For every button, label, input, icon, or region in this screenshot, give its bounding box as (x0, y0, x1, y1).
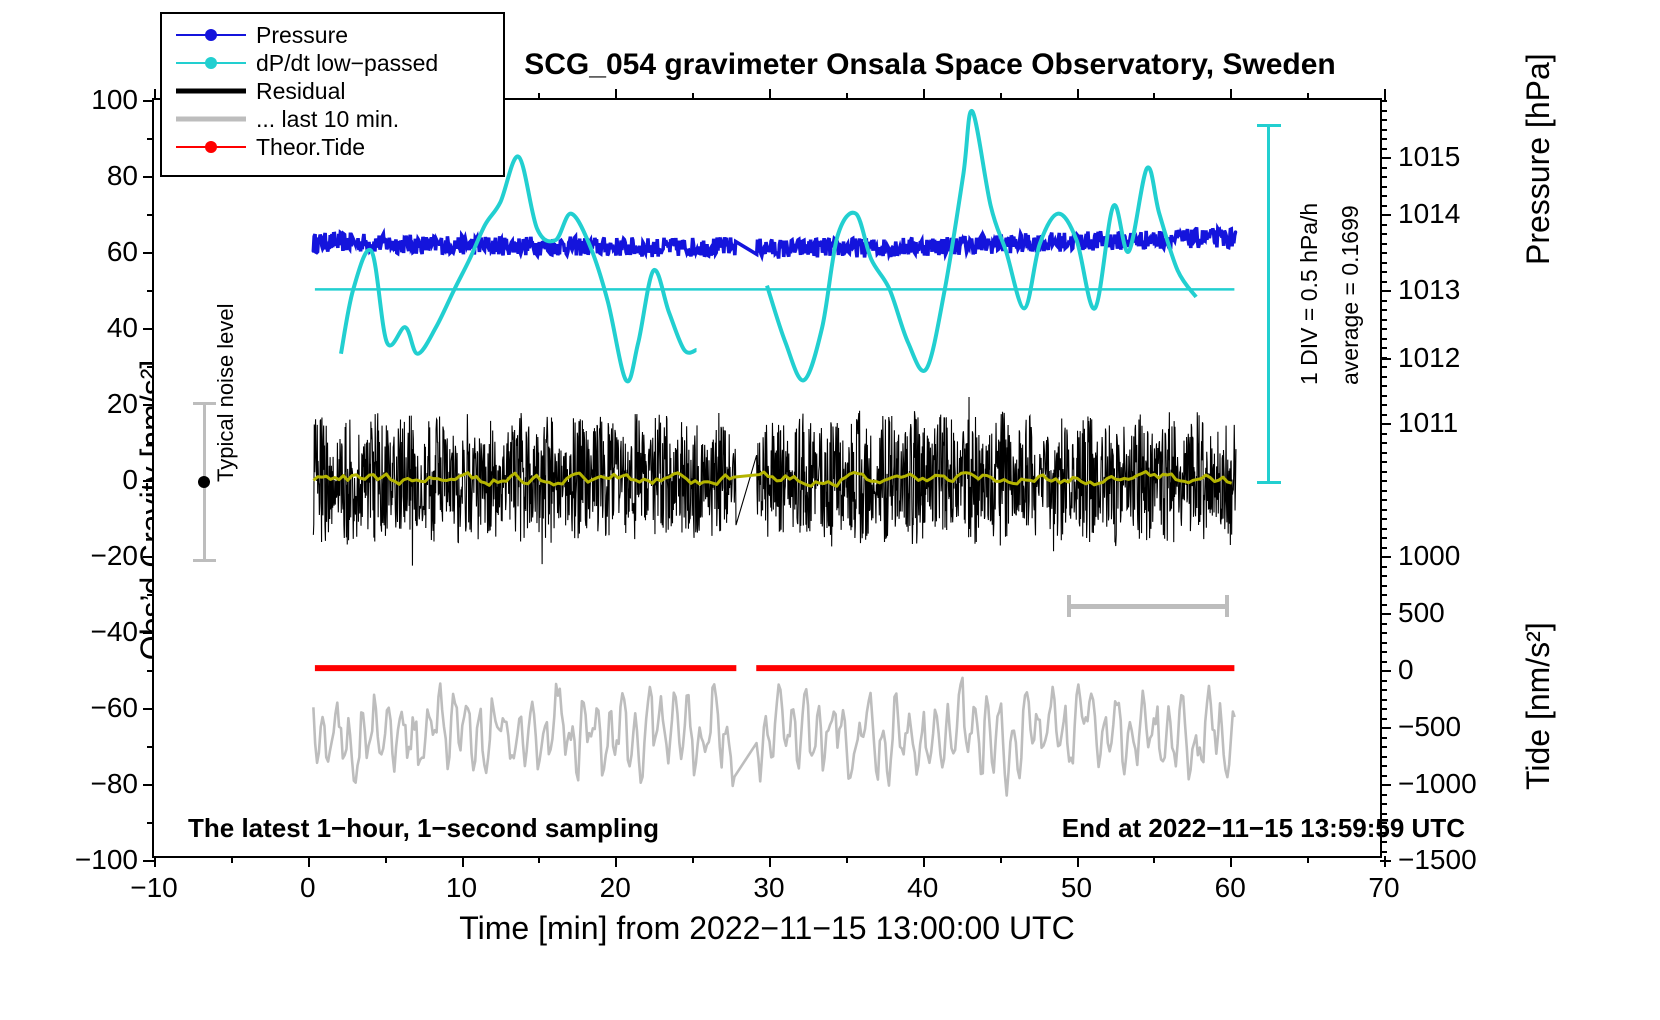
legend-marker-dot (205, 29, 217, 41)
pressure-tick-label: 1015 (1398, 141, 1460, 173)
right-tick-minor (1380, 319, 1387, 321)
caption-end-time: End at 2022−11−15 13:59:59 UTC (1062, 813, 1465, 844)
legend-swatch (172, 21, 250, 49)
y-tick-label: −80 (91, 768, 139, 800)
legend-item[interactable]: dP/dt low−passed (172, 49, 493, 77)
series-layer (154, 100, 1380, 858)
tide-tick-label: −1000 (1398, 768, 1477, 800)
x-tick-major (615, 856, 617, 867)
tide-tick-label: −500 (1398, 711, 1461, 743)
y-tick-minor (147, 518, 154, 520)
plot-area: 100806040200−20−40−60−80−100−10010203040… (152, 98, 1382, 858)
x-tick-major (154, 856, 156, 867)
right-tick-minor (1380, 689, 1387, 691)
x-tick-major (462, 856, 464, 867)
x-tick-minor-top (1000, 93, 1002, 100)
y-tick-major (143, 252, 154, 254)
y-tick-minor (147, 290, 154, 292)
right-tick-minor (1380, 328, 1387, 330)
x-tick-major-top (1230, 89, 1232, 100)
legend-label: Theor.Tide (250, 134, 365, 161)
x-tick-label: 10 (446, 872, 477, 904)
y-tick-major (143, 404, 154, 406)
right-tick-minor (1380, 727, 1387, 729)
y-tick-major (143, 784, 154, 786)
pressure-tick-label: 1012 (1398, 342, 1460, 374)
pressure-tick-label: 1011 (1398, 407, 1458, 439)
right-tick-minor (1380, 490, 1387, 492)
right-tick-minor (1380, 775, 1387, 777)
page-title: SCG_054 gravimeter Onsala Space Observat… (430, 48, 1430, 82)
right-tick-minor (1380, 699, 1387, 701)
right-tick-minor (1380, 309, 1387, 311)
y-tick-label: 0 (122, 464, 138, 496)
x-tick-major-top (923, 89, 925, 100)
y-tick-label: 80 (107, 160, 138, 192)
right-tick-minor (1380, 176, 1387, 178)
right-tick-minor (1380, 566, 1387, 568)
right-tick-minor (1380, 186, 1387, 188)
x-axis-label: Time [min] from 2022−11−15 13:00:00 UTC (152, 910, 1382, 947)
noise-level-label: Typical noise level (213, 303, 239, 482)
right-tick-minor (1380, 746, 1387, 748)
legend-label: ... last 10 min. (250, 106, 399, 133)
tide-tick-label: 1000 (1398, 540, 1460, 572)
y-tick-major (143, 708, 154, 710)
x-tick-major (923, 856, 925, 867)
right-tick-minor (1380, 642, 1387, 644)
y-tick-minor (147, 366, 154, 368)
x-tick-major (308, 856, 310, 867)
x-tick-minor-top (692, 93, 694, 100)
right-tick-minor (1380, 338, 1387, 340)
y-tick-minor (147, 822, 154, 824)
y-tick-major (143, 100, 154, 102)
pressure-tick-major (1380, 358, 1391, 360)
right-tick-minor (1380, 252, 1387, 254)
y-tick-label: −60 (91, 692, 139, 724)
right-tick-minor (1380, 281, 1387, 283)
x-tick-label: −10 (130, 872, 178, 904)
right-tick-minor (1380, 100, 1387, 102)
x-tick-label: 20 (600, 872, 631, 904)
right-tick-minor (1380, 271, 1387, 273)
x-tick-label: 40 (907, 872, 938, 904)
right-tick-minor (1380, 461, 1387, 463)
right-tick-minor (1380, 518, 1387, 520)
right-tick-minor (1380, 784, 1387, 786)
x-tick-major-top (769, 89, 771, 100)
x-tick-minor (692, 856, 694, 863)
x-tick-label: 0 (300, 872, 316, 904)
right-tick-minor (1380, 300, 1387, 302)
y-tick-major (143, 556, 154, 558)
dpdt-scale-bar (1256, 124, 1282, 484)
x-tick-label: 60 (1215, 872, 1246, 904)
legend-item[interactable]: Theor.Tide (172, 133, 493, 161)
y-tick-major (143, 328, 154, 330)
y-axis-label-pressure: Pressure [hPa] (1520, 53, 1557, 265)
legend-item[interactable]: Pressure (172, 21, 493, 49)
pressure-scatter-band (313, 228, 1235, 258)
right-tick-minor (1380, 414, 1387, 416)
right-tick-minor (1380, 347, 1387, 349)
noise-level-dot (198, 476, 210, 488)
right-tick-minor (1380, 442, 1387, 444)
right-tick-minor (1380, 718, 1387, 720)
right-tick-minor (1380, 594, 1387, 596)
right-tick-minor (1380, 794, 1387, 796)
right-tick-minor (1380, 262, 1387, 264)
y-tick-major (143, 480, 154, 482)
legend-swatch (172, 105, 250, 133)
right-tick-minor (1380, 205, 1387, 207)
right-tick-minor (1380, 423, 1387, 425)
legend-label: dP/dt low−passed (250, 50, 438, 77)
x-tick-label: 50 (1061, 872, 1092, 904)
right-tick-minor (1380, 385, 1387, 387)
chart-root: SCG_054 gravimeter Onsala Space Observat… (0, 0, 1660, 1020)
right-tick-minor (1380, 110, 1387, 112)
right-tick-minor (1380, 357, 1387, 359)
legend-label: Pressure (250, 22, 348, 49)
tide-tick-label: 0 (1398, 654, 1414, 686)
right-tick-minor (1380, 376, 1387, 378)
right-tick-minor (1380, 661, 1387, 663)
x-tick-minor (231, 856, 233, 863)
right-tick-minor (1380, 765, 1387, 767)
caption-sampling: The latest 1−hour, 1−second sampling (188, 813, 659, 844)
x-tick-major (769, 856, 771, 867)
y-tick-label: 60 (107, 236, 138, 268)
tide-tick-label: 500 (1398, 597, 1445, 629)
residual-noise-band (313, 397, 1236, 566)
right-tick-minor (1380, 433, 1387, 435)
y-tick-label: −40 (91, 616, 139, 648)
right-tick-minor (1380, 670, 1387, 672)
right-tick-minor (1380, 537, 1387, 539)
legend-label: Residual (250, 78, 346, 105)
dpdt-curve-segment (341, 156, 697, 381)
x-tick-major-top (154, 89, 156, 100)
legend-marker-dot (205, 141, 217, 153)
tide-tick-label: −1500 (1398, 844, 1477, 876)
right-tick-minor (1380, 195, 1387, 197)
right-tick-minor (1380, 708, 1387, 710)
legend-line (176, 89, 246, 94)
x-tick-minor (1307, 856, 1309, 863)
x-tick-minor (385, 856, 387, 863)
right-tick-minor (1380, 395, 1387, 397)
right-tick-minor (1380, 167, 1387, 169)
right-tick-minor (1380, 575, 1387, 577)
x-tick-major-top (1077, 89, 1079, 100)
pressure-tick-label: 1014 (1398, 198, 1460, 230)
right-tick-minor (1380, 851, 1387, 853)
right-tick-minor (1380, 471, 1387, 473)
right-tick-minor (1380, 509, 1387, 511)
right-tick-minor (1380, 366, 1387, 368)
legend-marker-dot (205, 57, 217, 69)
x-tick-minor-top (538, 93, 540, 100)
right-tick-minor (1380, 157, 1387, 159)
right-tick-minor (1380, 632, 1387, 634)
y-tick-label: −20 (91, 540, 139, 572)
right-tick-minor (1380, 404, 1387, 406)
x-tick-label: 30 (753, 872, 784, 904)
right-tick-minor (1380, 604, 1387, 606)
y-tick-label: 20 (107, 388, 138, 420)
right-tick-minor (1380, 119, 1387, 121)
x-tick-major (1230, 856, 1232, 867)
pressure-tick-label: 1013 (1398, 274, 1460, 306)
x-tick-major (1077, 856, 1079, 867)
x-tick-minor (846, 856, 848, 863)
legend-line (176, 117, 246, 122)
dpdt-average-label: average = 0.1699 (1337, 205, 1364, 385)
y-tick-minor (147, 670, 154, 672)
legend-item[interactable]: ... last 10 min. (172, 105, 493, 133)
right-tick-minor (1380, 148, 1387, 150)
y-tick-major (143, 176, 154, 178)
right-tick-minor (1380, 756, 1387, 758)
legend-swatch (172, 49, 250, 77)
last-10min-trace (313, 678, 1234, 796)
x-tick-label: 70 (1368, 872, 1399, 904)
last-10min-span-bar (1067, 595, 1229, 617)
legend-swatch (172, 133, 250, 161)
x-tick-minor-top (1307, 93, 1309, 100)
right-tick-minor (1380, 737, 1387, 739)
legend-swatch (172, 77, 250, 105)
right-tick-minor (1380, 290, 1387, 292)
y-tick-minor (147, 746, 154, 748)
x-tick-major-top (1384, 89, 1386, 100)
y-tick-major (143, 632, 154, 634)
right-tick-minor (1380, 129, 1387, 131)
x-tick-minor (1153, 856, 1155, 863)
right-tick-minor (1380, 233, 1387, 235)
right-tick-minor (1380, 860, 1387, 862)
y-tick-minor (147, 442, 154, 444)
right-tick-minor (1380, 224, 1387, 226)
y-tick-label: 40 (107, 312, 138, 344)
right-tick-minor (1380, 680, 1387, 682)
y-tick-minor (147, 594, 154, 596)
y-axis-label-tide: Tide [nm/s²] (1520, 622, 1557, 790)
right-tick-minor (1380, 556, 1387, 558)
right-tick-minor (1380, 585, 1387, 587)
y-tick-label: −100 (75, 844, 138, 876)
x-tick-minor (538, 856, 540, 863)
legend: PressuredP/dt low−passedResidual... last… (160, 12, 505, 177)
legend-item[interactable]: Residual (172, 77, 493, 105)
y-tick-major (143, 860, 154, 862)
y-tick-minor (147, 214, 154, 216)
right-tick-minor (1380, 547, 1387, 549)
dpdt-div-label: 1 DIV = 0.5 hPa/h (1296, 203, 1323, 385)
x-tick-minor-top (846, 93, 848, 100)
x-tick-major-top (615, 89, 617, 100)
right-tick-minor (1380, 214, 1387, 216)
right-tick-minor (1380, 499, 1387, 501)
right-tick-minor (1380, 138, 1387, 140)
right-tick-minor (1380, 651, 1387, 653)
right-tick-minor (1380, 452, 1387, 454)
x-tick-minor-top (1153, 93, 1155, 100)
right-tick-minor (1380, 480, 1387, 482)
right-tick-minor (1380, 623, 1387, 625)
y-tick-label: 100 (91, 84, 138, 116)
y-tick-minor (147, 138, 154, 140)
right-tick-minor (1380, 613, 1387, 615)
right-tick-minor (1380, 243, 1387, 245)
right-tick-minor (1380, 528, 1387, 530)
right-tick-minor (1380, 803, 1387, 805)
x-tick-minor (1000, 856, 1002, 863)
